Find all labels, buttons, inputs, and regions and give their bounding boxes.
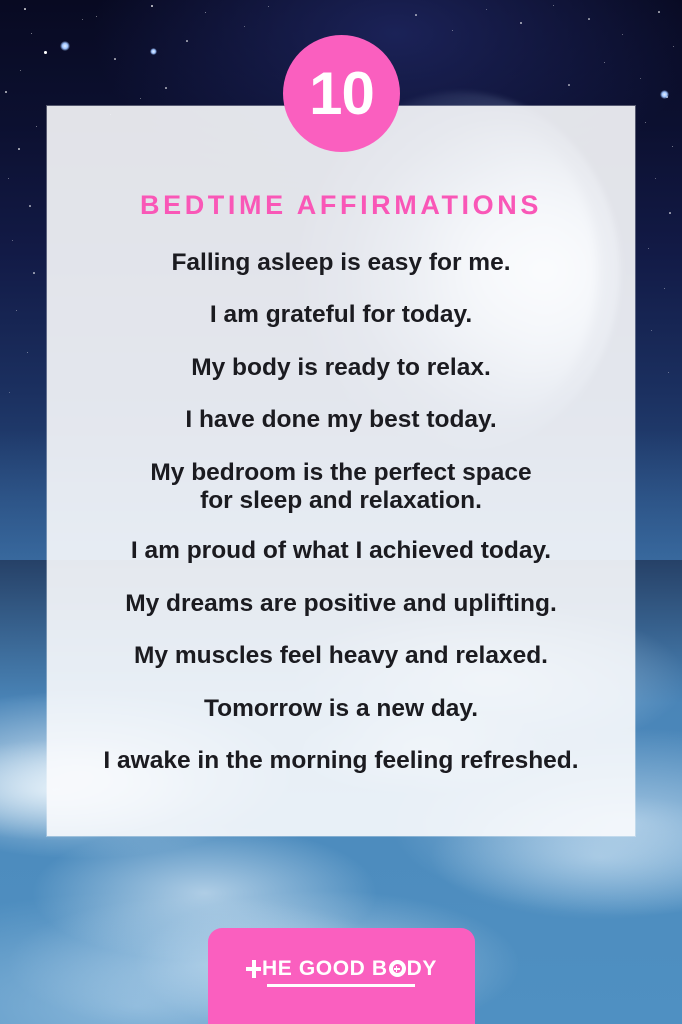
brand-logo-underline — [267, 984, 415, 987]
poster-canvas: BEDTIME AFFIRMATIONS Falling asleep is e… — [0, 0, 682, 1024]
number-badge-label: 10 — [309, 64, 374, 124]
brand-logo-part1: HE GOOD B — [262, 958, 388, 979]
circle-plus-icon — [389, 960, 406, 977]
list-item: Falling asleep is easy for me. — [171, 249, 510, 277]
list-item: My muscles feel heavy and relaxed. — [134, 642, 548, 670]
list-item: I am grateful for today. — [210, 301, 472, 329]
list-item-line: for sleep and relaxation. — [200, 487, 482, 514]
page-title: BEDTIME AFFIRMATIONS — [140, 190, 542, 221]
number-badge: 10 — [283, 35, 400, 152]
list-item: My bedroom is the perfect space for slee… — [150, 459, 531, 516]
brand-logo-text: HE GOOD BDY — [246, 958, 437, 979]
brand-footer-badge: HE GOOD BDY — [208, 928, 475, 1024]
affirmations-card: BEDTIME AFFIRMATIONS Falling asleep is e… — [47, 106, 635, 836]
bright-star-icon — [60, 41, 70, 51]
plus-icon — [246, 960, 261, 978]
list-item: I have done my best today. — [185, 406, 496, 434]
list-item: I awake in the morning feeling refreshed… — [103, 747, 578, 775]
list-item-line: My bedroom is the perfect space — [150, 459, 531, 486]
bright-star-icon — [150, 48, 157, 55]
bright-star-icon — [660, 90, 669, 99]
list-item: Tomorrow is a new day. — [204, 695, 478, 723]
list-item: My dreams are positive and uplifting. — [125, 590, 557, 618]
brand-logo-part2: DY — [407, 958, 437, 979]
list-item: My body is ready to relax. — [191, 354, 491, 382]
brand-logo: HE GOOD BDY — [246, 958, 437, 987]
affirmations-list: Falling asleep is easy for me. I am grat… — [47, 249, 635, 799]
list-item: I am proud of what I achieved today. — [131, 537, 551, 565]
